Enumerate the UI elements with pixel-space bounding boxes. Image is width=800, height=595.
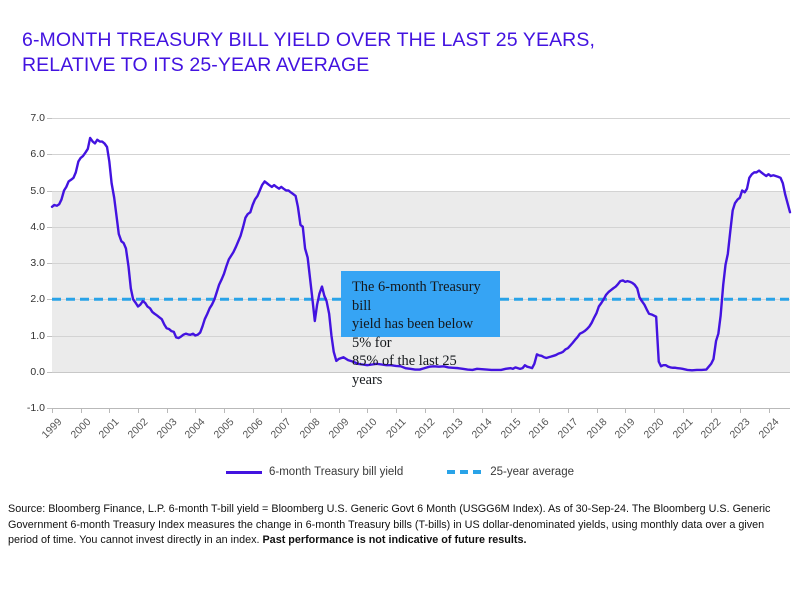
x-tick-label: 2009 [326, 416, 351, 441]
y-tick-label: -1.0 [27, 402, 45, 414]
x-tick-label: 2020 [641, 416, 666, 441]
y-tick-label: 3.0 [30, 257, 45, 269]
y-tick-mark [47, 336, 52, 337]
x-tick-label: 2001 [97, 416, 122, 441]
y-tick-label: 2.0 [30, 293, 45, 305]
x-tick-mark [396, 408, 397, 413]
x-tick-mark [167, 408, 168, 413]
x-tick-mark [109, 408, 110, 413]
legend-item-average: 25-year average [447, 466, 574, 478]
x-tick-mark [482, 408, 483, 413]
callout-line-2: yield has been below 5% for [352, 315, 490, 352]
callout-line-3: 85% of the last 25 years [352, 352, 490, 389]
x-tick-label: 2015 [498, 416, 523, 441]
x-tick-mark [367, 408, 368, 413]
y-tick-label: 5.0 [30, 185, 45, 197]
x-tick-label: 2021 [670, 416, 695, 441]
y-tick-label: 1.0 [30, 330, 45, 342]
x-tick-mark [597, 408, 598, 413]
y-tick-label: 6.0 [30, 148, 45, 160]
chart-page: 6-MONTH TREASURY BILL YIELD OVER THE LAS… [0, 0, 800, 595]
x-tick-mark [253, 408, 254, 413]
x-axis-line [52, 408, 790, 409]
x-tick-mark [568, 408, 569, 413]
y-tick-mark [47, 299, 52, 300]
legend-item-yield: 6-month Treasury bill yield [226, 466, 403, 478]
x-tick-mark [310, 408, 311, 413]
x-tick-label: 2016 [527, 416, 552, 441]
title-line-1: 6-MONTH TREASURY BILL YIELD OVER THE LAS… [22, 28, 742, 53]
y-tick-label: 0.0 [30, 366, 45, 378]
legend-dashed-line-icon [447, 470, 483, 474]
y-tick-mark [47, 263, 52, 264]
x-tick-label: 2017 [555, 416, 580, 441]
x-tick-mark [425, 408, 426, 413]
footnote-bold-text: Past performance is not indicative of fu… [262, 534, 526, 546]
x-tick-mark [195, 408, 196, 413]
x-tick-mark [52, 408, 53, 413]
y-tick-mark [47, 191, 52, 192]
x-tick-mark [683, 408, 684, 413]
title-line-2: RELATIVE TO ITS 25-YEAR AVERAGE [22, 53, 742, 78]
x-tick-label: 2019 [613, 416, 638, 441]
x-tick-label: 2012 [412, 416, 437, 441]
y-tick-label: 7.0 [30, 112, 45, 124]
x-tick-label: 2024 [756, 416, 781, 441]
x-tick-mark [625, 408, 626, 413]
x-tick-mark [224, 408, 225, 413]
x-tick-mark [769, 408, 770, 413]
y-tick-mark [47, 227, 52, 228]
x-tick-label: 2022 [699, 416, 724, 441]
x-tick-label: 2004 [183, 416, 208, 441]
page-title: 6-MONTH TREASURY BILL YIELD OVER THE LAS… [22, 28, 742, 78]
x-tick-label: 2007 [269, 416, 294, 441]
x-tick-mark [339, 408, 340, 413]
callout-box: The 6-month Treasury bill yield has been… [341, 271, 500, 337]
y-tick-label: 4.0 [30, 221, 45, 233]
x-tick-mark [654, 408, 655, 413]
x-tick-mark [740, 408, 741, 413]
y-tick-mark [47, 154, 52, 155]
x-tick-label: 2008 [297, 416, 322, 441]
callout-line-1: The 6-month Treasury bill [352, 278, 490, 315]
chart-legend: 6-month Treasury bill yield 25-year aver… [0, 466, 800, 478]
x-tick-label: 2006 [240, 416, 265, 441]
x-tick-mark [453, 408, 454, 413]
x-tick-label: 1999 [39, 416, 64, 441]
x-tick-label: 2002 [125, 416, 150, 441]
y-tick-mark [47, 118, 52, 119]
footnote: Source: Bloomberg Finance, L.P. 6-month … [8, 502, 794, 549]
legend-label-yield: 6-month Treasury bill yield [269, 466, 403, 478]
legend-label-average: 25-year average [490, 466, 574, 478]
x-tick-label: 2018 [584, 416, 609, 441]
x-tick-label: 2011 [384, 416, 408, 440]
x-tick-mark [539, 408, 540, 413]
x-tick-mark [281, 408, 282, 413]
x-tick-mark [711, 408, 712, 413]
x-tick-mark [138, 408, 139, 413]
x-tick-mark [511, 408, 512, 413]
y-tick-mark [47, 372, 52, 373]
x-tick-label: 2013 [441, 416, 466, 441]
x-tick-label: 2000 [68, 416, 93, 441]
x-tick-label: 2023 [727, 416, 752, 441]
x-tick-label: 2005 [211, 416, 236, 441]
x-tick-label: 2010 [355, 416, 380, 441]
x-tick-label: 2014 [469, 416, 494, 441]
x-tick-mark [81, 408, 82, 413]
chart-container: Percent (%) 7.06.05.04.03.02.01.00.0-1.0… [0, 100, 800, 420]
x-tick-label: 2003 [154, 416, 179, 441]
legend-solid-line-icon [226, 471, 262, 474]
